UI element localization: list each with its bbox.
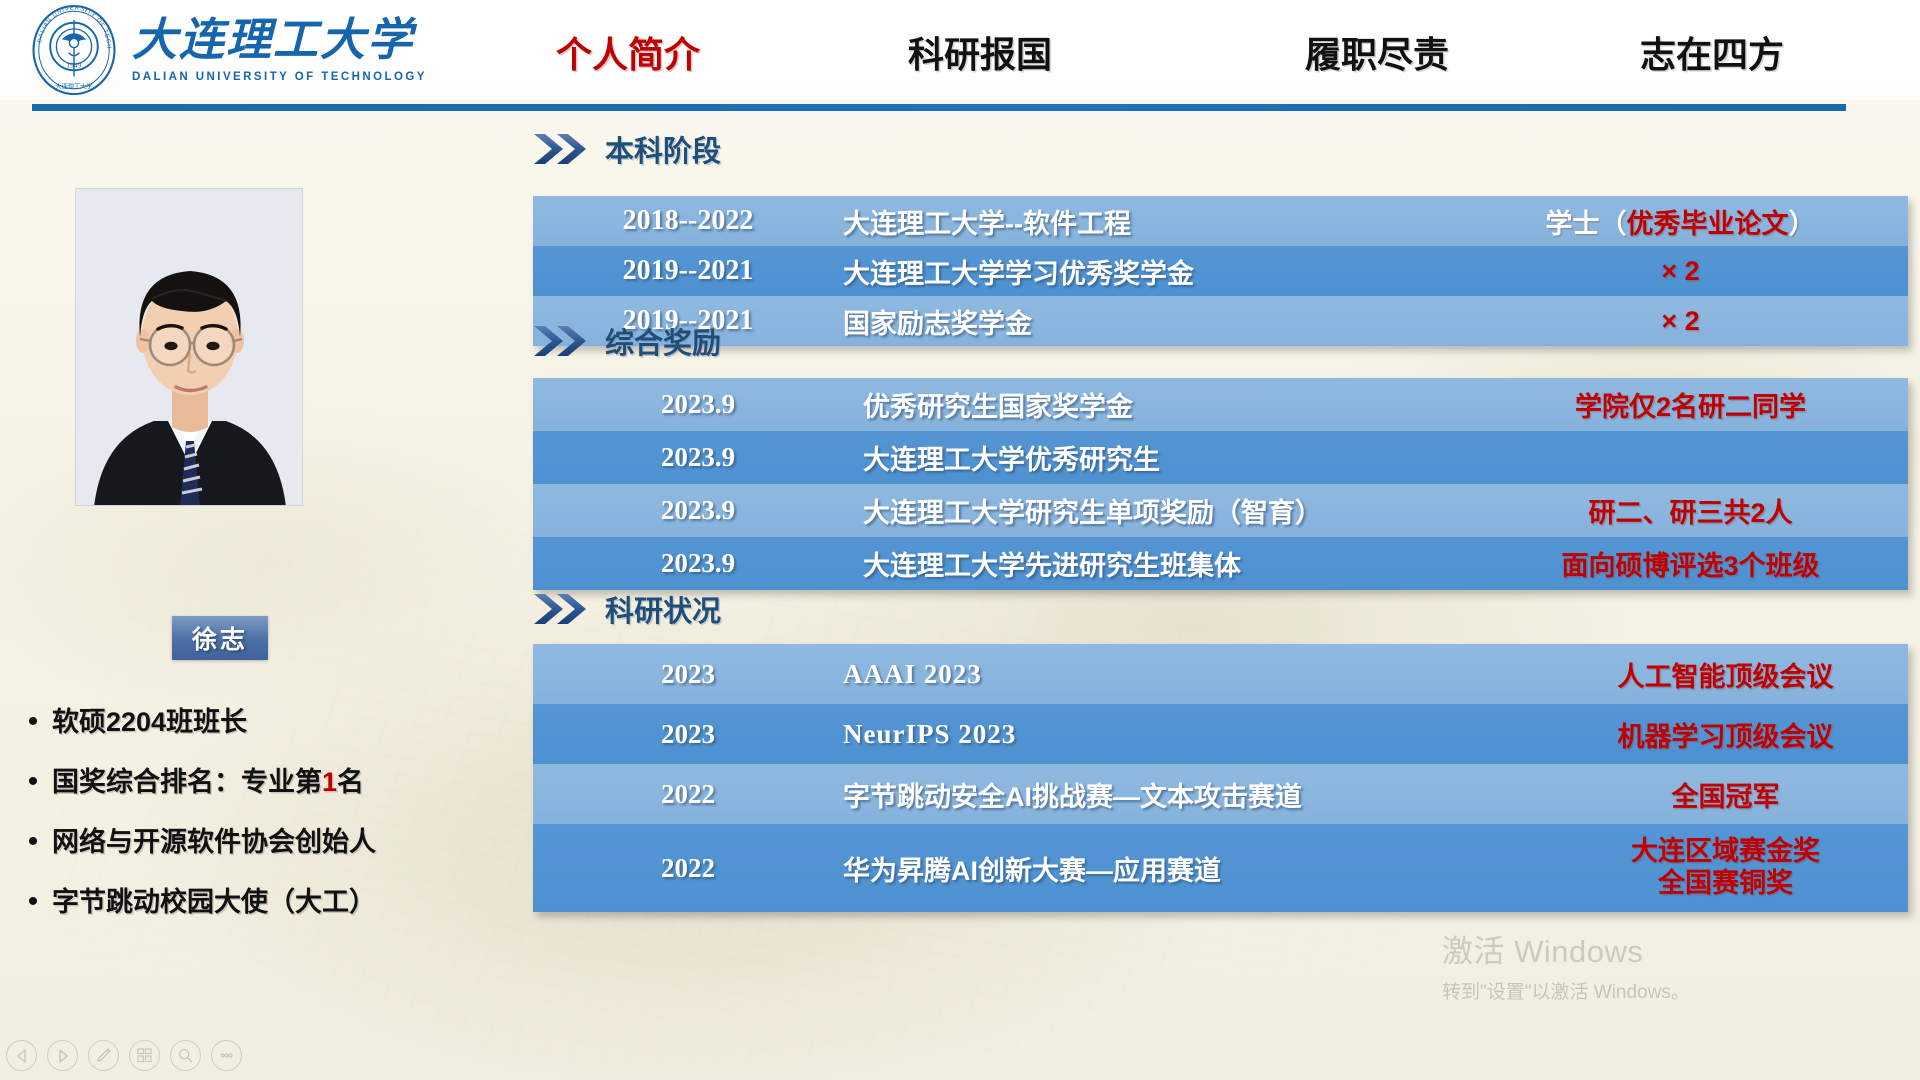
table-row: 2023 AAAI 2023 人工智能顶级会议 (533, 644, 1908, 704)
section-title: 本科阶段 (605, 128, 721, 170)
cell-description: 大连理工大学学习优秀奖学金 (843, 252, 1453, 291)
cell-note: × 2 (1453, 256, 1908, 287)
triangle-right-icon (55, 1048, 71, 1064)
cell-description: AAAI 2023 (843, 659, 1543, 690)
cell-description: 大连理工大学--软件工程 (843, 202, 1453, 241)
cell-date: 2022 (533, 779, 843, 810)
table-row: 2023.9 大连理工大学优秀研究生 (533, 431, 1908, 484)
ellipsis-icon (218, 1047, 235, 1064)
cell-description: 字节跳动安全AI挑战赛—文本攻击赛道 (843, 775, 1543, 814)
magnifier-icon (177, 1047, 194, 1064)
section-header-research: 科研状况 (533, 588, 721, 630)
cell-date: 2023.9 (533, 389, 863, 420)
section-header-undergraduate: 本科阶段 (533, 128, 721, 170)
pen-icon (95, 1047, 112, 1064)
cell-description: 大连理工大学优秀研究生 (863, 438, 1473, 477)
research-table: 2023 AAAI 2023 人工智能顶级会议 2023 NeurIPS 202… (533, 644, 1908, 912)
double-chevron-icon (533, 324, 589, 358)
cell-date: 2023.9 (533, 442, 863, 473)
cell-note: 机器学习顶级会议 (1543, 715, 1908, 754)
next-slide-button[interactable] (47, 1040, 78, 1071)
section-title: 综合奖励 (605, 320, 721, 362)
cell-date: 2023 (533, 659, 843, 690)
table-row: 2023 NeurIPS 2023 机器学习顶级会议 (533, 704, 1908, 764)
pen-tool-button[interactable] (88, 1040, 119, 1071)
all-slides-button[interactable] (129, 1040, 160, 1071)
cell-note: 全国冠军 (1543, 775, 1908, 814)
cell-note: 大连区域赛金奖 全国赛铜奖 (1543, 836, 1908, 900)
cell-description: 优秀研究生国家奖学金 (863, 385, 1473, 424)
section-header-awards: 综合奖励 (533, 320, 721, 362)
table-row: 2023.9 大连理工大学先进研究生班集体 面向硕博评选3个班级 (533, 537, 1908, 590)
cell-description: 大连理工大学先进研究生班集体 (863, 544, 1473, 583)
presentation-control-bar (6, 1040, 242, 1071)
cell-note: 学院仅2名研二同学 (1473, 385, 1908, 424)
cell-date: 2023 (533, 719, 843, 750)
previous-slide-button[interactable] (6, 1040, 37, 1071)
zoom-button[interactable] (170, 1040, 201, 1071)
undergraduate-table: 2018--2022 大连理工大学--软件工程 学士（优秀毕业论文） 2019-… (533, 196, 1908, 346)
cell-date: 2023.9 (533, 495, 863, 526)
grid-slides-icon (136, 1047, 153, 1064)
triangle-left-icon (14, 1048, 30, 1064)
table-row: 2022 华为昇腾AI创新大赛—应用赛道 大连区域赛金奖 全国赛铜奖 (533, 824, 1908, 912)
cell-note: 人工智能顶级会议 (1543, 655, 1908, 694)
table-row: 2018--2022 大连理工大学--软件工程 学士（优秀毕业论文） (533, 196, 1908, 246)
cell-note: 学士（优秀毕业论文） (1453, 202, 1908, 241)
cell-description: 华为昇腾AI创新大赛—应用赛道 (843, 849, 1543, 888)
cell-date: 2019--2021 (533, 255, 843, 287)
table-row: 2023.9 大连理工大学研究生单项奖励（智育） 研二、研三共2人 (533, 484, 1908, 537)
cell-description: 大连理工大学研究生单项奖励（智育） (863, 491, 1473, 530)
double-chevron-icon (533, 132, 589, 166)
cell-date: 2018--2022 (533, 205, 843, 237)
table-row: 2023.9 优秀研究生国家奖学金 学院仅2名研二同学 (533, 378, 1908, 431)
cell-note: × 2 (1453, 306, 1908, 337)
table-row: 2022 字节跳动安全AI挑战赛—文本攻击赛道 全国冠军 (533, 764, 1908, 824)
cell-date: 2022 (533, 853, 843, 884)
cell-note: 研二、研三共2人 (1473, 491, 1908, 530)
cell-note: 面向硕博评选3个班级 (1473, 544, 1908, 583)
table-row: 2019--2021 大连理工大学学习优秀奖学金 × 2 (533, 246, 1908, 296)
cell-date: 2023.9 (533, 548, 863, 579)
section-title: 科研状况 (605, 588, 721, 630)
table-row: 2019--2021 国家励志奖学金 × 2 (533, 296, 1908, 346)
cell-description: 国家励志奖学金 (843, 302, 1453, 341)
cell-description: NeurIPS 2023 (843, 719, 1543, 750)
more-options-button[interactable] (211, 1040, 242, 1071)
double-chevron-icon (533, 592, 589, 626)
awards-table: 2023.9 优秀研究生国家奖学金 学院仅2名研二同学 2023.9 大连理工大… (533, 378, 1908, 590)
